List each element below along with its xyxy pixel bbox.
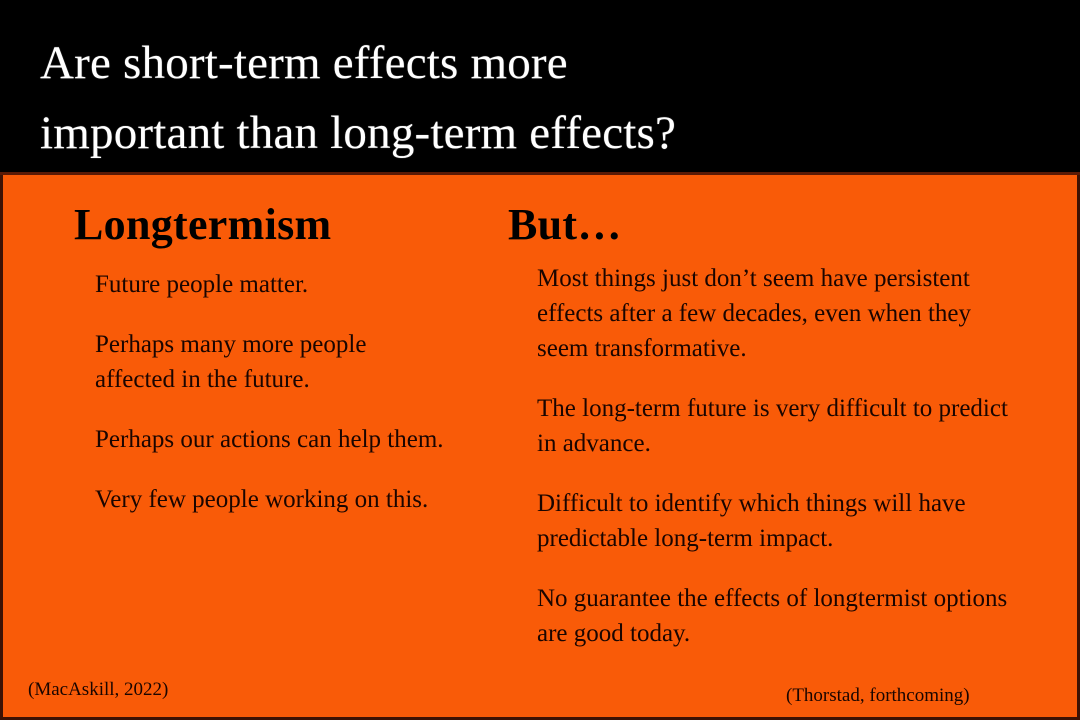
column-heading-but: But… [508,175,1028,251]
list-item: The long-term future is very difficult t… [537,391,1019,461]
column-but: But… Most things just don’t seem have pe… [508,175,1028,676]
list-item: Perhaps our actions can help them. [95,422,447,457]
list-item: Difficult to identify which things will … [537,486,1019,556]
list-item: Most things just don’t seem have persist… [537,261,1019,366]
citation-right: (Thorstad, forthcoming) [786,684,970,708]
bullet-list-but: Most things just don’t seem have persist… [508,251,1028,651]
slide-title-band: Are short-term effects more important th… [0,0,1080,172]
bullet-list-longtermism: Future people matter. Perhaps many more … [74,251,494,517]
presentation-slide: Are short-term effects more important th… [0,0,1080,720]
slide-body: Longtermism Future people matter. Perhap… [0,175,1080,720]
citation-left: (MacAskill, 2022) [28,678,168,702]
page-title: Are short-term effects more important th… [40,28,1050,168]
list-item: Very few people working on this. [95,482,447,517]
column-heading-longtermism: Longtermism [74,175,494,251]
slide-border-left [0,175,3,720]
list-item: Perhaps many more people affected in the… [95,327,447,397]
list-item: Future people matter. [95,267,447,302]
list-item: No guarantee the effects of longtermist … [537,581,1019,651]
column-longtermism: Longtermism Future people matter. Perhap… [74,175,494,542]
